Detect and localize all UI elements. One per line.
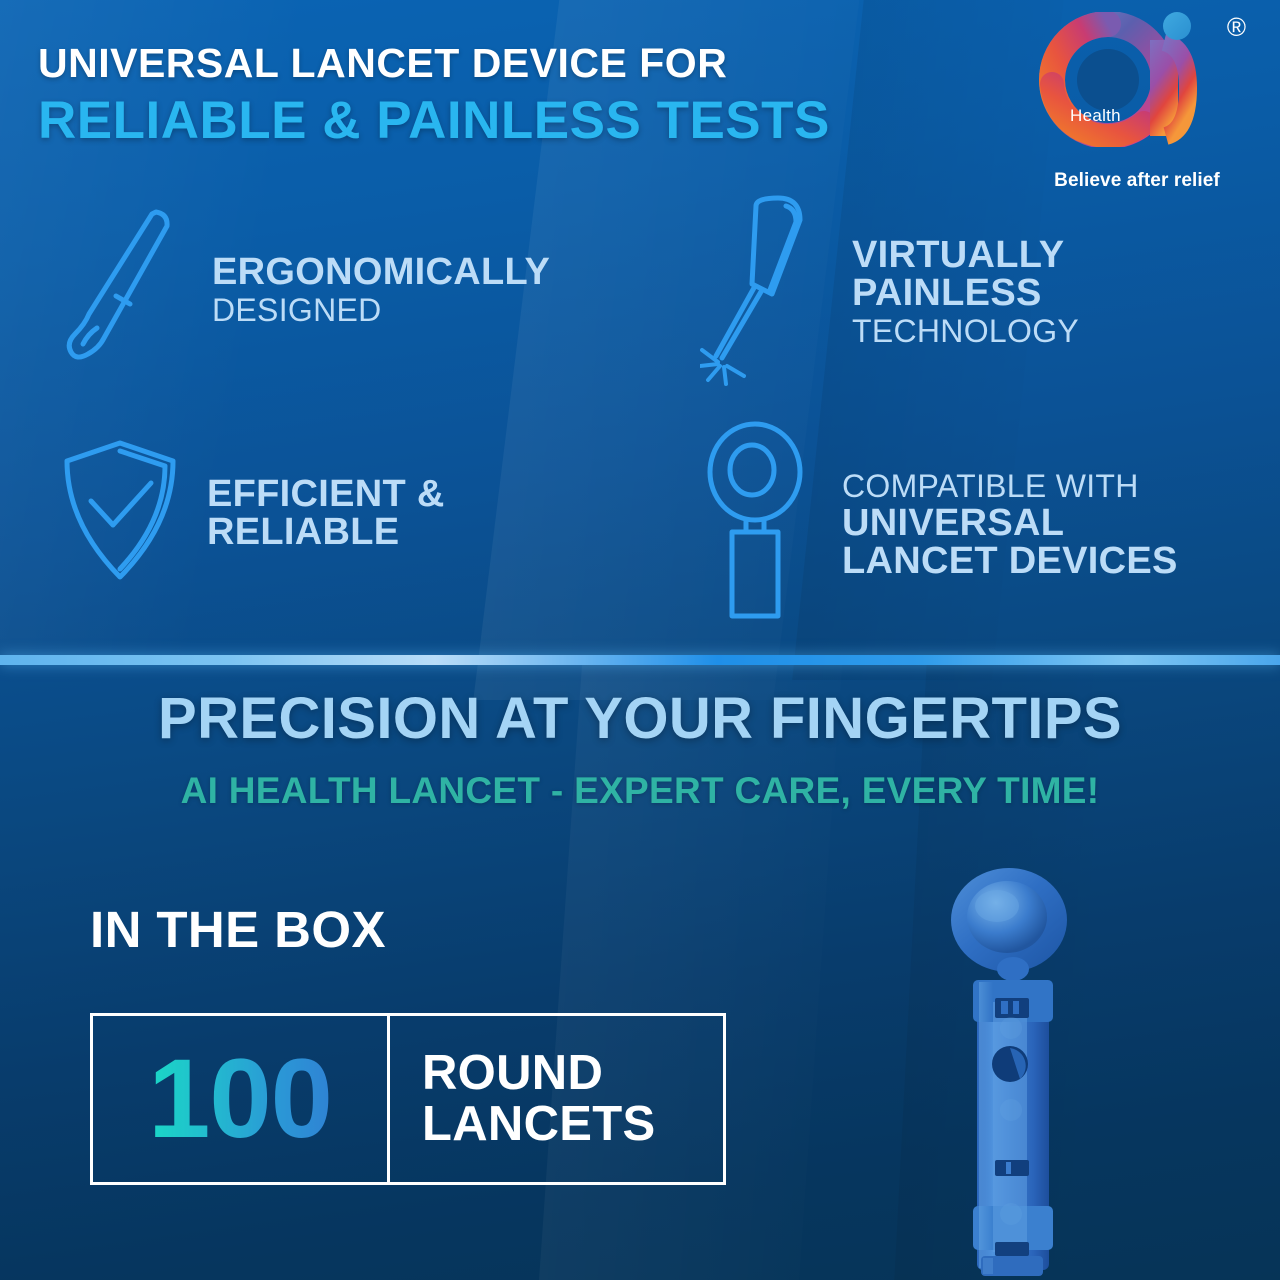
feature-title-efficient-2: RELIABLE [207, 513, 445, 551]
headline-block: UNIVERSAL LANCET DEVICE FOR RELIABLE & P… [38, 42, 1038, 149]
feature-title-efficient-1: EFFICIENT & [207, 475, 445, 513]
ai-logo-mark-icon [1038, 12, 1223, 147]
feature-title-compatible-2: LANCET DEVICES [842, 542, 1178, 580]
feature-text-efficient: EFFICIENT & RELIABLE [207, 475, 445, 551]
logo-tagline: Believe after relief [1026, 170, 1248, 192]
feature-sub-painless: TECHNOLOGY [852, 315, 1079, 349]
mid-banner-subtitle: AI HEALTH LANCET - EXPERT CARE, EVERY TI… [0, 772, 1280, 809]
feature-title-painless-1: VIRTUALLY [852, 236, 1079, 274]
in-the-box-quantity-cell: 100 [93, 1016, 390, 1182]
feature-item-efficient: EFFICIENT & RELIABLE [55, 435, 445, 590]
lancet-needle-impact-icon [700, 190, 830, 395]
feature-item-compatible: COMPATIBLE WITH UNIVERSAL LANCET DEVICES [690, 420, 1178, 630]
registered-trademark-symbol: ® [1227, 14, 1246, 40]
in-the-box-item-line-1: ROUND [422, 1048, 723, 1099]
promo-graphic: UNIVERSAL LANCET DEVICE FOR RELIABLE & P… [0, 0, 1280, 1280]
logo-inner-label: Health [1070, 106, 1121, 126]
round-lancet-icon [690, 420, 820, 630]
in-the-box-card: 100 ROUND LANCETS [90, 1013, 726, 1185]
lancet-pen-icon [60, 200, 190, 380]
mid-banner-title: PRECISION AT YOUR FINGERTIPS [0, 690, 1280, 748]
feature-sub-ergonomic: DESIGNED [212, 294, 550, 328]
feature-item-painless: VIRTUALLY PAINLESS TECHNOLOGY [700, 190, 1079, 395]
feature-sub-compatible: COMPATIBLE WITH [842, 470, 1178, 504]
in-the-box-quantity: 100 [148, 1043, 332, 1155]
product-image-round-lancet [905, 862, 1155, 1280]
feature-text-painless: VIRTUALLY PAINLESS TECHNOLOGY [852, 236, 1079, 349]
feature-text-compatible: COMPATIBLE WITH UNIVERSAL LANCET DEVICES [842, 470, 1178, 580]
headline-line-2: RELIABLE & PAINLESS TESTS [38, 92, 1038, 149]
in-the-box-title: IN THE BOX [90, 900, 386, 959]
mid-banner: PRECISION AT YOUR FINGERTIPS AI HEALTH L… [0, 690, 1280, 809]
in-the-box-item-cell: ROUND LANCETS [390, 1016, 723, 1182]
feature-grid: ERGONOMICALLY DESIGNED [0, 190, 1280, 650]
feature-title-painless-2: PAINLESS [852, 274, 1079, 312]
section-divider [0, 655, 1280, 665]
in-the-box-item-line-2: LANCETS [422, 1099, 723, 1150]
shield-check-icon [55, 435, 185, 590]
feature-item-ergonomic: ERGONOMICALLY DESIGNED [60, 200, 550, 380]
feature-text-ergonomic: ERGONOMICALLY DESIGNED [212, 253, 550, 328]
feature-title-compatible-1: UNIVERSAL [842, 504, 1178, 542]
headline-line-1: UNIVERSAL LANCET DEVICE FOR [38, 42, 1038, 85]
brand-logo: ® Health Believe after relief [1026, 8, 1256, 198]
feature-title-ergonomic: ERGONOMICALLY [212, 253, 550, 291]
